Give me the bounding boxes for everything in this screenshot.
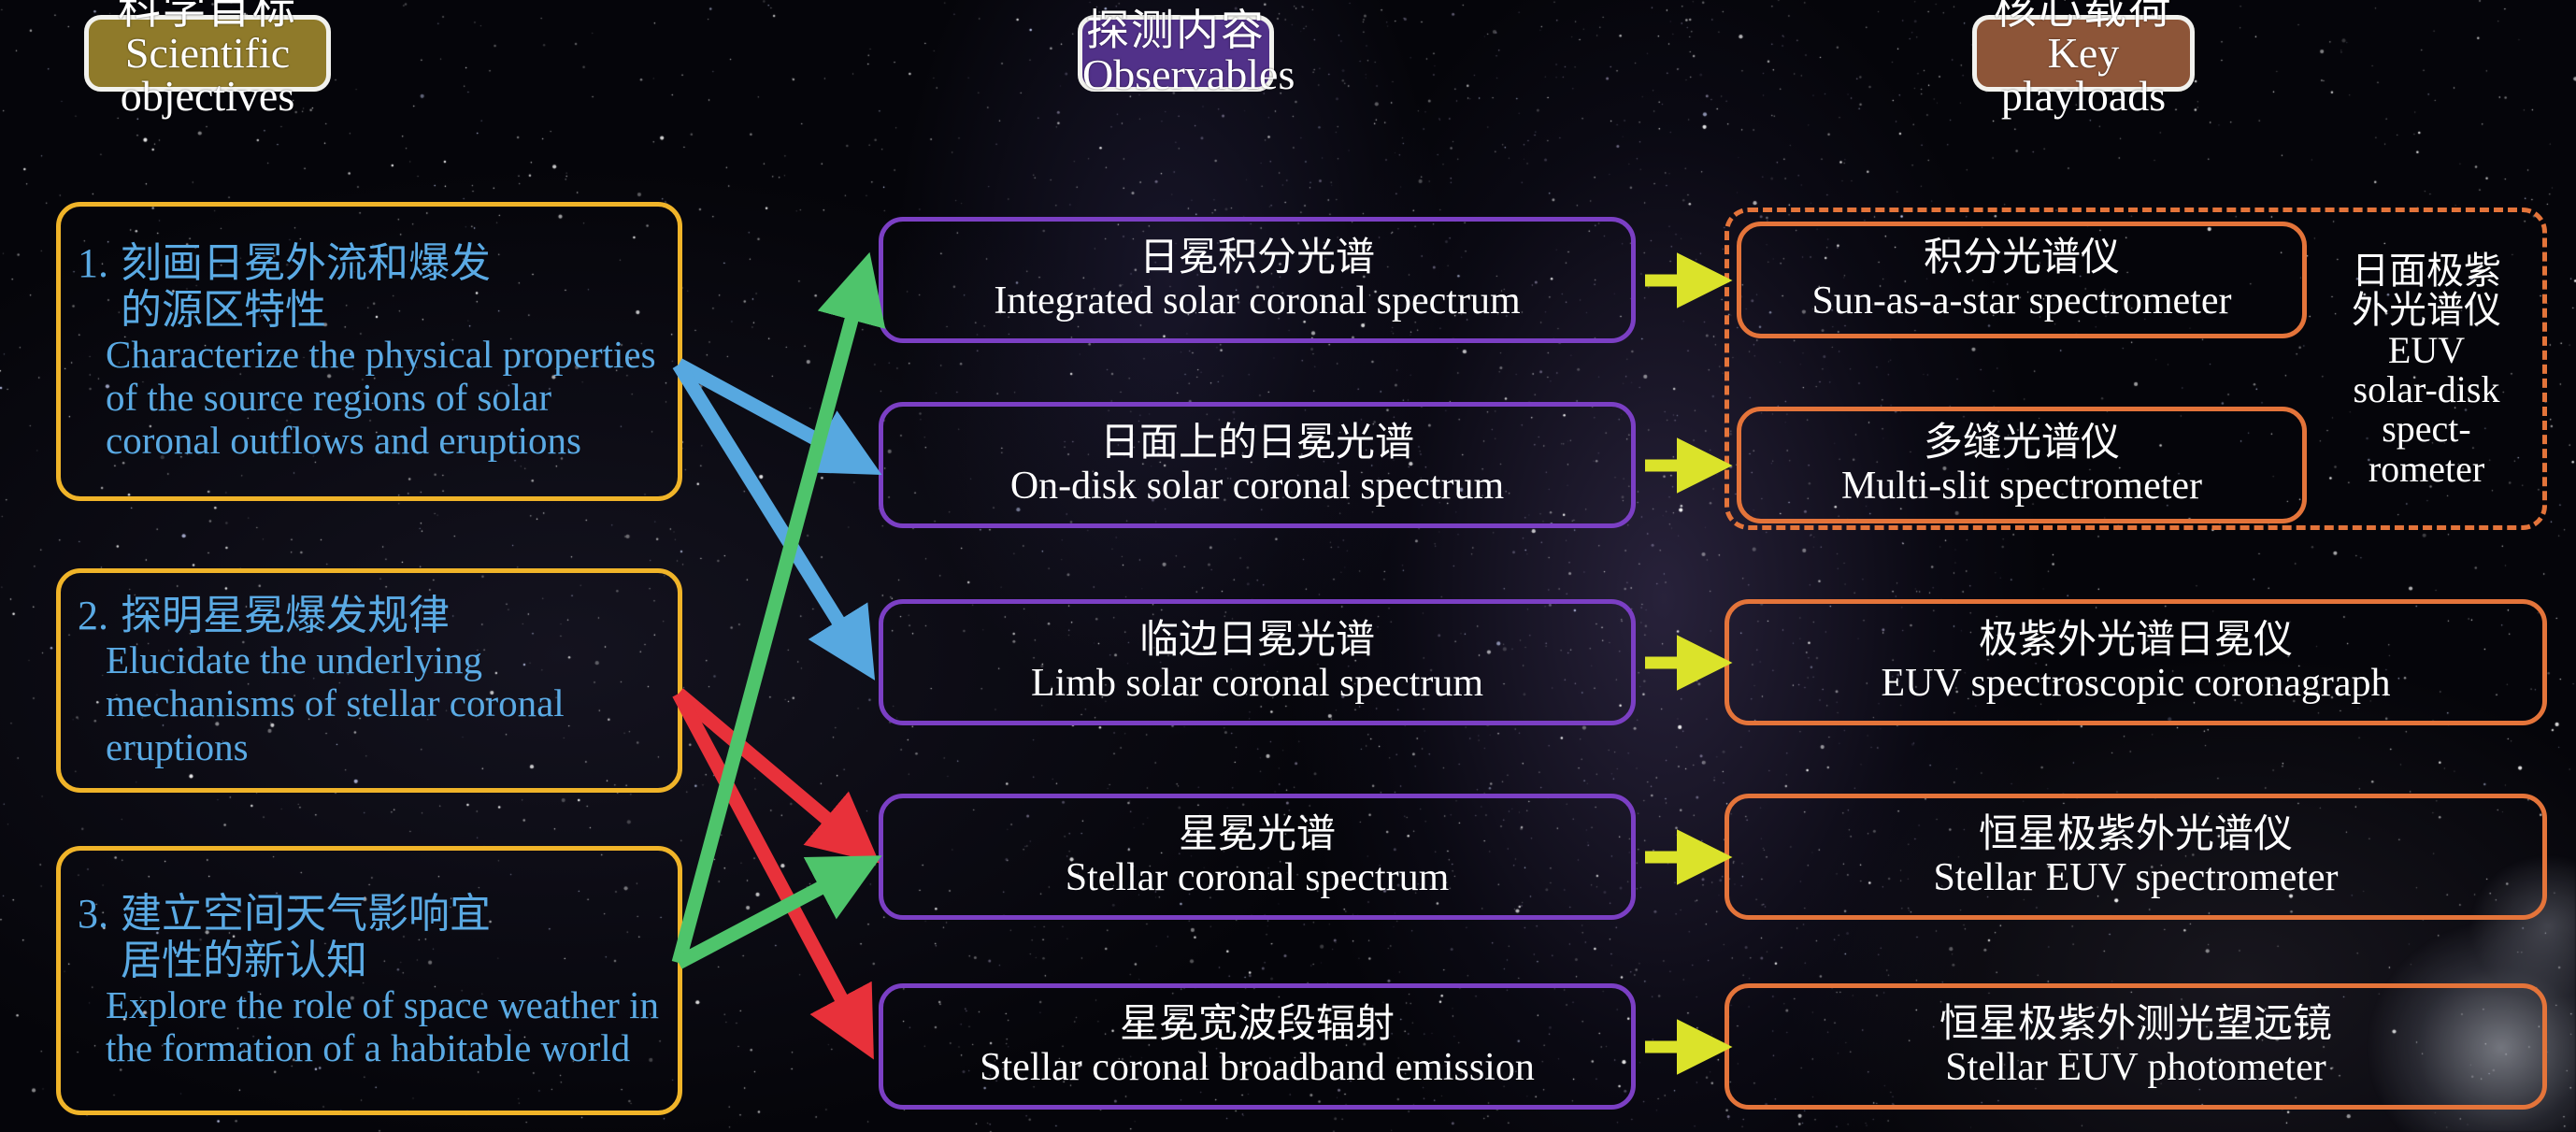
payload-en-label: Multi-slit spectrometer [1841, 466, 2202, 508]
payload-en-label: Stellar EUV photometer [1945, 1047, 2326, 1089]
header-observables: 探测内容 Observables [1078, 15, 1274, 92]
observable-card-4[interactable]: 星冕光谱 Stellar coronal spectrum [879, 794, 1636, 920]
payload-card-3[interactable]: 极紫外光谱日冕仪 EUV spectroscopic coronagraph [1724, 599, 2547, 725]
payload-cn-label: 极紫外光谱日冕仪 [1979, 620, 2293, 662]
header-cn-label: 科学目标 [89, 0, 326, 32]
payload-en-label: Stellar EUV spectrometer [1933, 857, 2338, 899]
objective-cn-line1: 3.建立空间天气影响宜 [78, 891, 663, 937]
diagram-canvas: 科学目标 Scientific objectives 探测内容 Observab… [0, 0, 2576, 1132]
header-cn-label: 探测内容 [1082, 9, 1269, 53]
observable-en-label: Limb solar coronal spectrum [1031, 663, 1483, 705]
observable-en-label: Stellar coronal broadband emission [980, 1047, 1535, 1089]
observable-cn-label: 星冕光谱 [1179, 814, 1336, 856]
payload-group-label: 日面极紫 外光谱仪 EUV solar-disk spect- rometer [2318, 221, 2535, 520]
objective-en-text: Elucidate the underlying mechanisms of s… [78, 638, 663, 768]
header-cn-label: 核心载荷 [1977, 0, 2190, 32]
header-en-label: Key playloads [1977, 32, 2190, 120]
payload-cn-label: 多缝光谱仪 [1924, 423, 2120, 465]
payload-en-label: EUV spectroscopic coronagraph [1881, 663, 2390, 705]
observable-en-label: On-disk solar coronal spectrum [1010, 466, 1504, 508]
observable-en-label: Integrated solar coronal spectrum [994, 280, 1520, 322]
header-en-label: Observables [1082, 53, 1269, 97]
payload-en-label: Sun-as-a-star spectrometer [1812, 280, 2232, 322]
objective-en-text: Characterize the physical properties of … [78, 333, 663, 463]
objective-cn-line2: 的源区特性 [78, 287, 663, 333]
group-label-cn-line2: 外光谱仪 [2352, 291, 2501, 330]
observable-cn-label: 临边日冕光谱 [1139, 620, 1375, 662]
objective-cn-line1: 2.探明星冕爆发规律 [78, 593, 663, 638]
objective-card-2[interactable]: 2.探明星冕爆发规律 Elucidate the underlying mech… [56, 568, 682, 793]
group-label-cn-line1: 日面极紫 [2352, 251, 2501, 291]
group-label-en-line3: spect- [2382, 409, 2471, 449]
group-label-en-line4: rometer [2368, 450, 2484, 489]
payload-card-5[interactable]: 恒星极紫外测光望远镜 Stellar EUV photometer [1724, 983, 2547, 1110]
payload-card-2[interactable]: 多缝光谱仪 Multi-slit spectrometer [1737, 407, 2307, 523]
group-label-en-line1: EUV [2388, 331, 2465, 370]
objective-number: 1. [78, 240, 121, 286]
payload-card-1[interactable]: 积分光谱仪 Sun-as-a-star spectrometer [1737, 222, 2307, 338]
observable-cn-label: 星冕宽波段辐射 [1120, 1004, 1395, 1046]
payload-card-4[interactable]: 恒星极紫外光谱仪 Stellar EUV spectrometer [1724, 794, 2547, 920]
objective-cn-line1: 1.刻画日冕外流和爆发 [78, 240, 663, 286]
observable-card-2[interactable]: 日面上的日冕光谱 On-disk solar coronal spectrum [879, 402, 1636, 528]
objective-card-3[interactable]: 3.建立空间天气影响宜 居性的新认知 Explore the role of s… [56, 846, 682, 1115]
observable-cn-label: 日冕积分光谱 [1139, 237, 1375, 279]
payload-cn-label: 恒星极紫外光谱仪 [1979, 814, 2293, 856]
objective-number: 2. [78, 593, 121, 638]
payload-cn-label: 积分光谱仪 [1924, 237, 2120, 279]
payload-cn-label: 恒星极紫外测光望远镜 [1939, 1004, 2332, 1046]
observable-card-3[interactable]: 临边日冕光谱 Limb solar coronal spectrum [879, 599, 1636, 725]
objective-cn-line2: 居性的新认知 [78, 938, 663, 983]
objective-card-1[interactable]: 1.刻画日冕外流和爆发 的源区特性 Characterize the physi… [56, 202, 682, 501]
group-label-en-line2: solar-disk [2354, 370, 2500, 409]
header-en-label: Scientific objectives [89, 32, 326, 120]
header-key-playloads: 核心载荷 Key playloads [1972, 15, 2195, 92]
observable-en-label: Stellar coronal spectrum [1066, 857, 1450, 899]
observable-cn-label: 日面上的日冕光谱 [1100, 423, 1414, 465]
header-scientific-objectives: 科学目标 Scientific objectives [84, 15, 331, 92]
observable-card-1[interactable]: 日冕积分光谱 Integrated solar coronal spectrum [879, 217, 1636, 343]
observable-card-5[interactable]: 星冕宽波段辐射 Stellar coronal broadband emissi… [879, 983, 1636, 1110]
objective-en-text: Explore the role of space weather in the… [78, 983, 663, 1070]
objective-number: 3. [78, 891, 121, 937]
